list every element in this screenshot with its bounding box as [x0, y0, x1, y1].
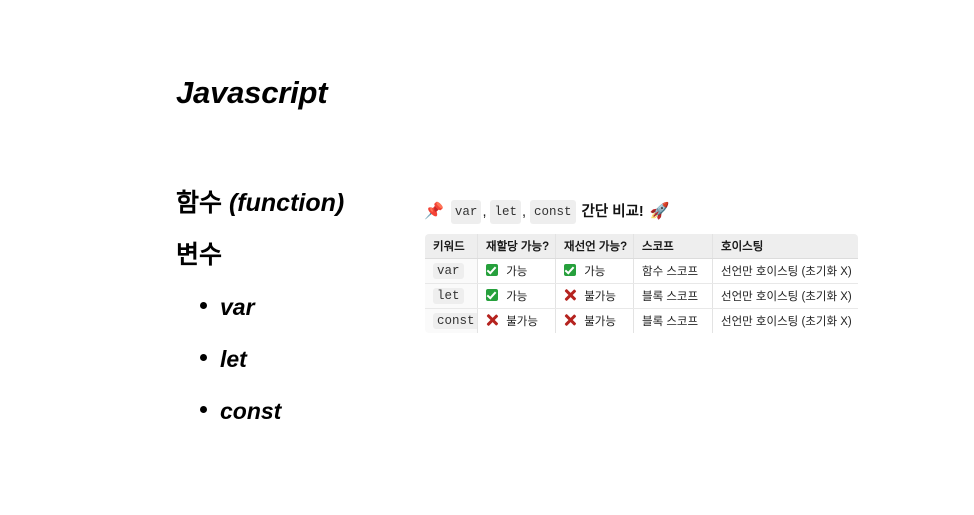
code-chip-keyword: var	[433, 263, 464, 279]
heading-function: 함수 (function)	[176, 187, 344, 219]
list-item-label: let	[220, 346, 247, 372]
cell-redeclare-label: 가능	[584, 266, 605, 278]
cell-hoisting: 선언만 호이스팅 (초기화 X)	[713, 309, 859, 334]
cell-reassign: 가능	[478, 259, 556, 284]
bullet-icon	[200, 406, 207, 413]
caption-text: 간단 비교!	[582, 201, 644, 223]
check-icon	[564, 264, 576, 276]
cell-scope: 블록 스코프	[634, 309, 713, 334]
cross-icon	[564, 289, 576, 301]
comparison-figure: 📌 var , let , const 간단 비교! 🚀 키워드 재할당 가능?…	[424, 200, 858, 334]
list-item-label: var	[220, 294, 255, 320]
list-item: let	[176, 344, 281, 396]
bullet-icon	[200, 354, 207, 361]
cell-redeclare: 가능	[556, 259, 634, 284]
code-chip-let: let	[490, 200, 521, 224]
comparison-table: 키워드 재할당 가능? 재선언 가능? 스코프 호이스팅 var 가능 가능	[424, 233, 859, 334]
slide-text-column: Javascript 함수 (function) 변수 var let cons…	[176, 74, 426, 112]
cell-reassign: 가능	[478, 284, 556, 309]
code-chip-var: var	[451, 200, 482, 224]
cell-redeclare-label: 불가능	[584, 316, 616, 328]
caption-comma: ,	[482, 201, 486, 223]
column-header-keyword: 키워드	[425, 234, 478, 259]
table-header-row: 키워드 재할당 가능? 재선언 가능? 스코프 호이스팅	[425, 234, 859, 259]
heading-function-latin: (function)	[229, 189, 344, 217]
cross-icon	[486, 314, 498, 326]
table-row: var 가능 가능 함수 스코프 선언만 호이스팅 (초기화 X)	[425, 259, 859, 284]
pushpin-icon: 📌	[424, 204, 444, 220]
caption-comma: ,	[522, 201, 526, 223]
list-item: var	[176, 292, 281, 344]
code-chip-keyword: let	[433, 288, 464, 304]
cell-keyword: let	[425, 284, 478, 309]
check-icon	[486, 289, 498, 301]
cell-keyword: var	[425, 259, 478, 284]
cell-scope: 블록 스코프	[634, 284, 713, 309]
check-icon	[486, 264, 498, 276]
code-chip-keyword: const	[433, 313, 478, 329]
cell-redeclare-label: 불가능	[584, 291, 616, 303]
list-item: const	[176, 396, 281, 448]
table-row: let 가능 불가능 블록 스코프 선언만 호이스팅 (초기화 X)	[425, 284, 859, 309]
table-row: const 불가능 불가능 블록 스코프 선언만 호이스팅 (초기화 X)	[425, 309, 859, 334]
column-header-scope: 스코프	[634, 234, 713, 259]
cell-reassign-label: 불가능	[506, 316, 538, 328]
cell-hoisting: 선언만 호이스팅 (초기화 X)	[713, 284, 859, 309]
cell-redeclare: 불가능	[556, 284, 634, 309]
rocket-icon: 🚀	[650, 204, 670, 220]
heading-variable: 변수	[176, 239, 222, 271]
cell-reassign-label: 가능	[506, 291, 527, 303]
figure-caption: 📌 var , let , const 간단 비교! 🚀	[424, 200, 858, 224]
column-header-hoisting: 호이스팅	[713, 234, 859, 259]
cross-icon	[564, 314, 576, 326]
code-chip-const: const	[530, 200, 576, 224]
keyword-list: var let const	[176, 292, 281, 448]
heading-function-korean: 함수	[176, 189, 222, 217]
cell-hoisting: 선언만 호이스팅 (초기화 X)	[713, 259, 859, 284]
cell-scope: 함수 스코프	[634, 259, 713, 284]
cell-keyword: const	[425, 309, 478, 334]
column-header-reassign: 재할당 가능?	[478, 234, 556, 259]
list-item-label: const	[220, 398, 281, 424]
column-header-redeclare: 재선언 가능?	[556, 234, 634, 259]
page-title: Javascript	[176, 74, 426, 112]
cell-reassign-label: 가능	[506, 266, 527, 278]
cell-redeclare: 불가능	[556, 309, 634, 334]
cell-reassign: 불가능	[478, 309, 556, 334]
bullet-icon	[200, 302, 207, 309]
